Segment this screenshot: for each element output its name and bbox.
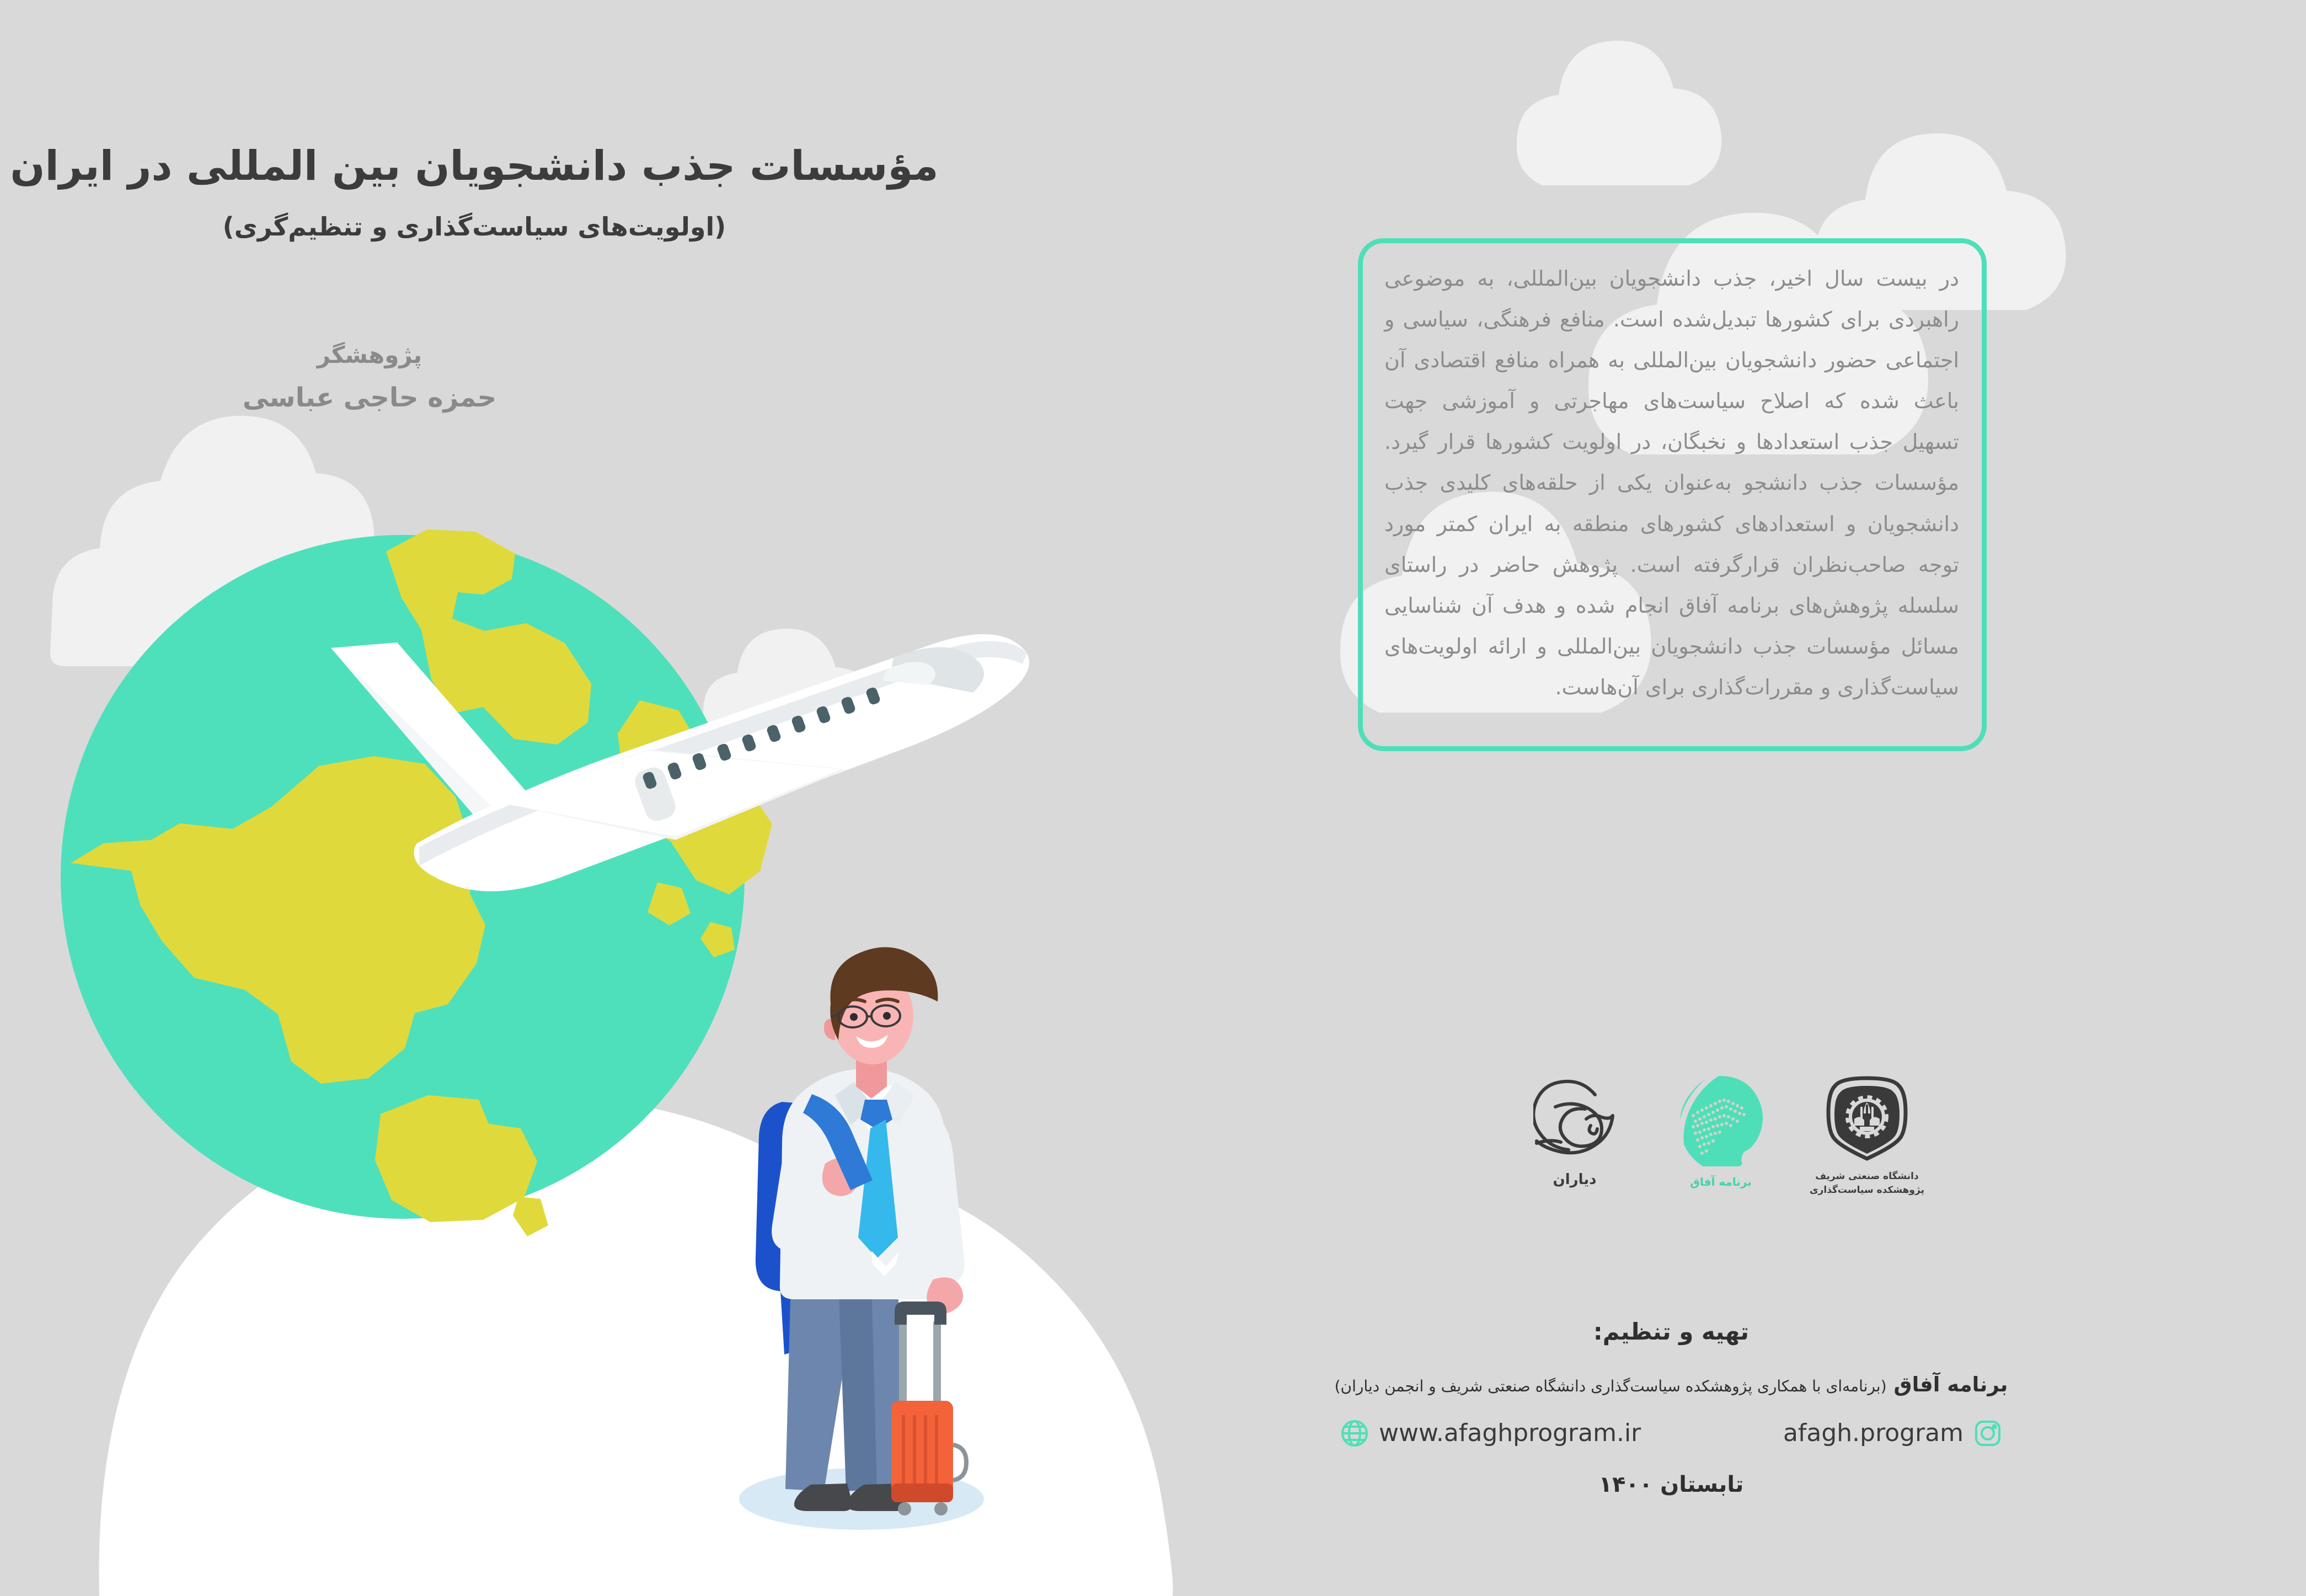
globe <box>61 529 772 1236</box>
page-title: مؤسسات جذب دانشجویان بین المللی در ایران <box>0 141 949 192</box>
instagram-handle: afagh.program <box>1783 1419 1963 1447</box>
logo-row: دانشگاه صنعتی شریف پژوهشکده سیاست‌گذاری <box>1511 1073 1930 1244</box>
organization-line: برنامه آفاق (برنامه‌ای با همکاری پژوهشکد… <box>1318 1370 2024 1399</box>
afagh-program-logo: برنامه آفاق <box>1657 1073 1784 1190</box>
instagram-link[interactable]: afagh.program <box>1783 1419 2002 1448</box>
website-url: www.afaghprogram.ir <box>1379 1419 1641 1447</box>
contact-row: www.afaghprogram.ir afagh.program <box>1318 1419 2024 1448</box>
organization-name: برنامه آفاق <box>1894 1373 2008 1396</box>
sharif-logo-caption: دانشگاه صنعتی شریف پژوهشکده سیاست‌گذاری <box>1810 1170 1924 1197</box>
website-link[interactable]: www.afaghprogram.ir <box>1340 1419 1641 1448</box>
sharif-university-logo: دانشگاه صنعتی شریف پژوهشکده سیاست‌گذاری <box>1804 1073 1930 1197</box>
author-role: پژوهشگر <box>0 339 739 372</box>
dove-icon <box>1533 1073 1616 1165</box>
globe-icon <box>1340 1419 1369 1448</box>
organization-note: (برنامه‌ای با همکاری پژوهشکده سیاست‌گذار… <box>1335 1377 1887 1395</box>
globe-continents <box>71 529 772 1236</box>
instagram-icon <box>1973 1419 2002 1448</box>
cover-page: مؤسسات جذب دانشجویان بین المللی در ایران… <box>0 0 2306 1596</box>
publication-date: تابستان ۱۴۰۰ <box>1318 1472 2024 1497</box>
student-character <box>756 947 965 1511</box>
footer: تهیه و تنظیم: برنامه آفاق (برنامه‌ای با … <box>1318 1318 2024 1519</box>
afagh-head-globe-icon <box>1677 1073 1765 1170</box>
page-subtitle: (اولویت‌های سیاست‌گذاری و تنظیم‌گری) <box>0 211 949 244</box>
sharif-crest-icon <box>1826 1073 1908 1165</box>
diyaran-logo-caption: دیاران <box>1553 1170 1597 1191</box>
prepared-by-label: تهیه و تنظیم: <box>1318 1318 2024 1345</box>
author-block: پژوهشگر حمزه حاجی عباسی <box>0 339 739 416</box>
afagh-logo-caption: برنامه آفاق <box>1690 1174 1752 1190</box>
diyaran-logo: دیاران <box>1511 1073 1638 1191</box>
ground-shadow <box>739 1468 984 1530</box>
title-block: مؤسسات جذب دانشجویان بین المللی در ایران… <box>0 141 949 243</box>
author-name: حمزه حاجی عباسی <box>0 379 739 416</box>
white-path-2 <box>99 1098 1008 1596</box>
white-path <box>167 1143 1173 1596</box>
airplane <box>331 634 1029 891</box>
abstract-text: در بیست سال اخیر، جذب دانشجویان بین‌المل… <box>1384 258 1959 708</box>
suitcase <box>891 1302 966 1515</box>
